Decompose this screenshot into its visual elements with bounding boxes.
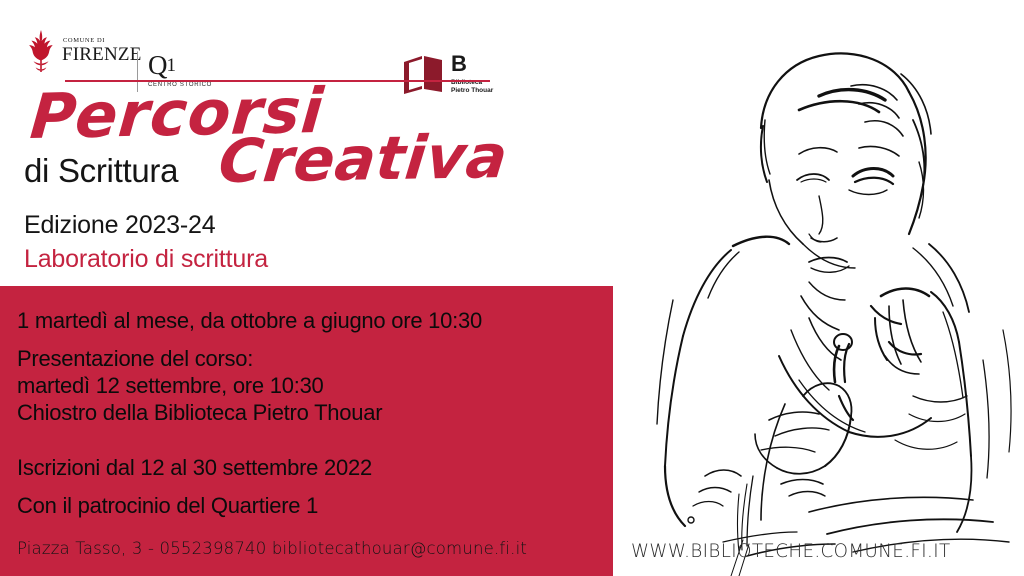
detail-schedule: 1 martedì al mese, da ottobre a giugno o… <box>17 306 482 335</box>
website-url[interactable]: WWW.BIBLIOTECHE.COMUNE.FI.IT <box>631 540 951 562</box>
thouar-b-letter: B <box>451 54 493 75</box>
left-content-column: COMUNE DI FIRENZE Q1 CENTRO STORICO <box>0 0 613 576</box>
giglio-fiorentino-icon <box>24 28 58 74</box>
q1-letter: Q <box>148 50 167 80</box>
subtitle-block: Edizione 2023-24 Laboratorio di scrittur… <box>24 210 584 276</box>
poster-title: Percorsi di Scrittura Creativa <box>0 86 613 204</box>
detail-presentation-label: Presentazione del corso: <box>17 344 253 373</box>
firenze-label: FIRENZE <box>62 46 142 64</box>
detail-patronage: Con il patrocinio del Quartiere 1 <box>17 491 318 520</box>
detail-registration: Iscrizioni dal 12 al 30 settembre 2022 <box>17 453 372 482</box>
details-red-panel: 1 martedì al mese, da ottobre a giugno o… <box>0 286 613 576</box>
workshop-label: Laboratorio di scrittura <box>24 244 584 275</box>
detail-contact-line: Piazza Tasso, 3 - 0552398740 bibliotecat… <box>17 539 527 559</box>
q1-mark: Q1 <box>148 52 226 79</box>
logo-bar: COMUNE DI FIRENZE Q1 CENTRO STORICO <box>0 24 613 78</box>
firenze-wordmark: COMUNE DI FIRENZE <box>62 38 142 64</box>
detail-presentation-date: martedì 12 settembre, ore 10:30 <box>17 371 324 400</box>
comune-di-firenze-logo: COMUNE DI FIRENZE <box>24 26 142 76</box>
detail-presentation-place: Chiostro della Biblioteca Pietro Thouar <box>17 398 382 427</box>
poster-canvas: COMUNE DI FIRENZE Q1 CENTRO STORICO <box>0 0 1024 576</box>
title-script-creativa: Creativa <box>216 127 511 192</box>
edition-label: Edizione 2023-24 <box>24 210 584 241</box>
woman-writing-line-drawing <box>613 0 1024 576</box>
q1-number: 1 <box>167 55 176 76</box>
right-illustration-column: WWW.BIBLIOTECHE.COMUNE.FI.IT <box>613 0 1024 576</box>
title-plain-di-scrittura: di Scrittura <box>24 152 178 190</box>
